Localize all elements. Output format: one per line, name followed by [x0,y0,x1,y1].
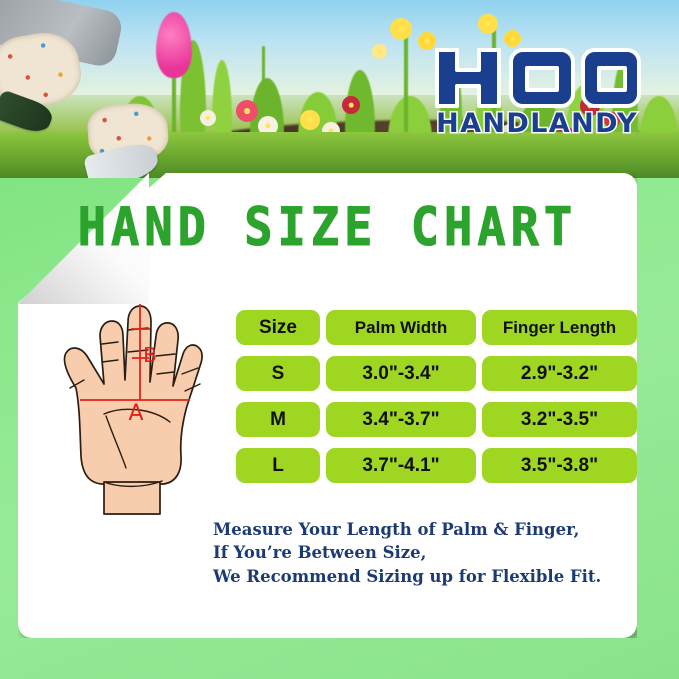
cell-finger-length: 2.9"-3.2" [482,356,637,391]
primula-flower [200,110,216,126]
cell-palm-width: 3.0"-3.4" [326,356,476,391]
handlandy-logo: HANDLANDY [431,42,643,138]
measure-label-a: A [128,401,143,426]
hero-garden-photo: HANDLANDY [0,0,679,178]
primula-flower [342,96,360,114]
column-header-size: Size [236,310,320,345]
primula-flower [300,110,320,130]
logo-wordmark: HANDLANDY [436,108,638,138]
table-row: S 3.0"-3.4" 2.9"-3.2" [236,356,637,391]
cell-palm-width: 3.7"-4.1" [326,448,476,483]
sizing-note-line-1: Measure Your Length of Palm & Finger, [213,518,633,541]
cell-size: M [236,402,320,437]
daffodil-flower [478,14,498,34]
daffodil-flower [390,18,412,40]
sizing-note: Measure Your Length of Palm & Finger, If… [213,518,633,588]
table-row: L 3.7"-4.1" 3.5"-3.8" [236,448,637,483]
table-header-row: Size Palm Width Finger Length [236,310,637,345]
column-header-palm-width: Palm Width [326,310,476,345]
page-title: HAND SIZE CHART [18,197,637,259]
sizing-note-line-3: We Recommend Sizing up for Flexible Fit. [213,565,633,588]
cell-palm-width: 3.4"-3.7" [326,402,476,437]
measure-label-b: B [143,343,157,367]
sizing-note-line-2: If You’re Between Size, [213,541,633,564]
cell-finger-length: 3.2"-3.5" [482,402,637,437]
hand-size-chart-page: HANDLANDY HAND SIZE CHART [0,0,679,679]
hand-diagram: A B [40,296,212,518]
table-row: M 3.4"-3.7" 3.2"-3.5" [236,402,637,437]
cell-finger-length: 3.5"-3.8" [482,448,637,483]
palm-shape [64,306,202,484]
cell-size: L [236,448,320,483]
column-header-finger-length: Finger Length [482,310,637,345]
daffodil-flower [372,44,387,59]
size-table: Size Palm Width Finger Length S 3.0"-3.4… [236,310,637,494]
cell-size: S [236,356,320,391]
logo-monogram-hnd [437,50,639,106]
primula-flower [236,100,258,122]
